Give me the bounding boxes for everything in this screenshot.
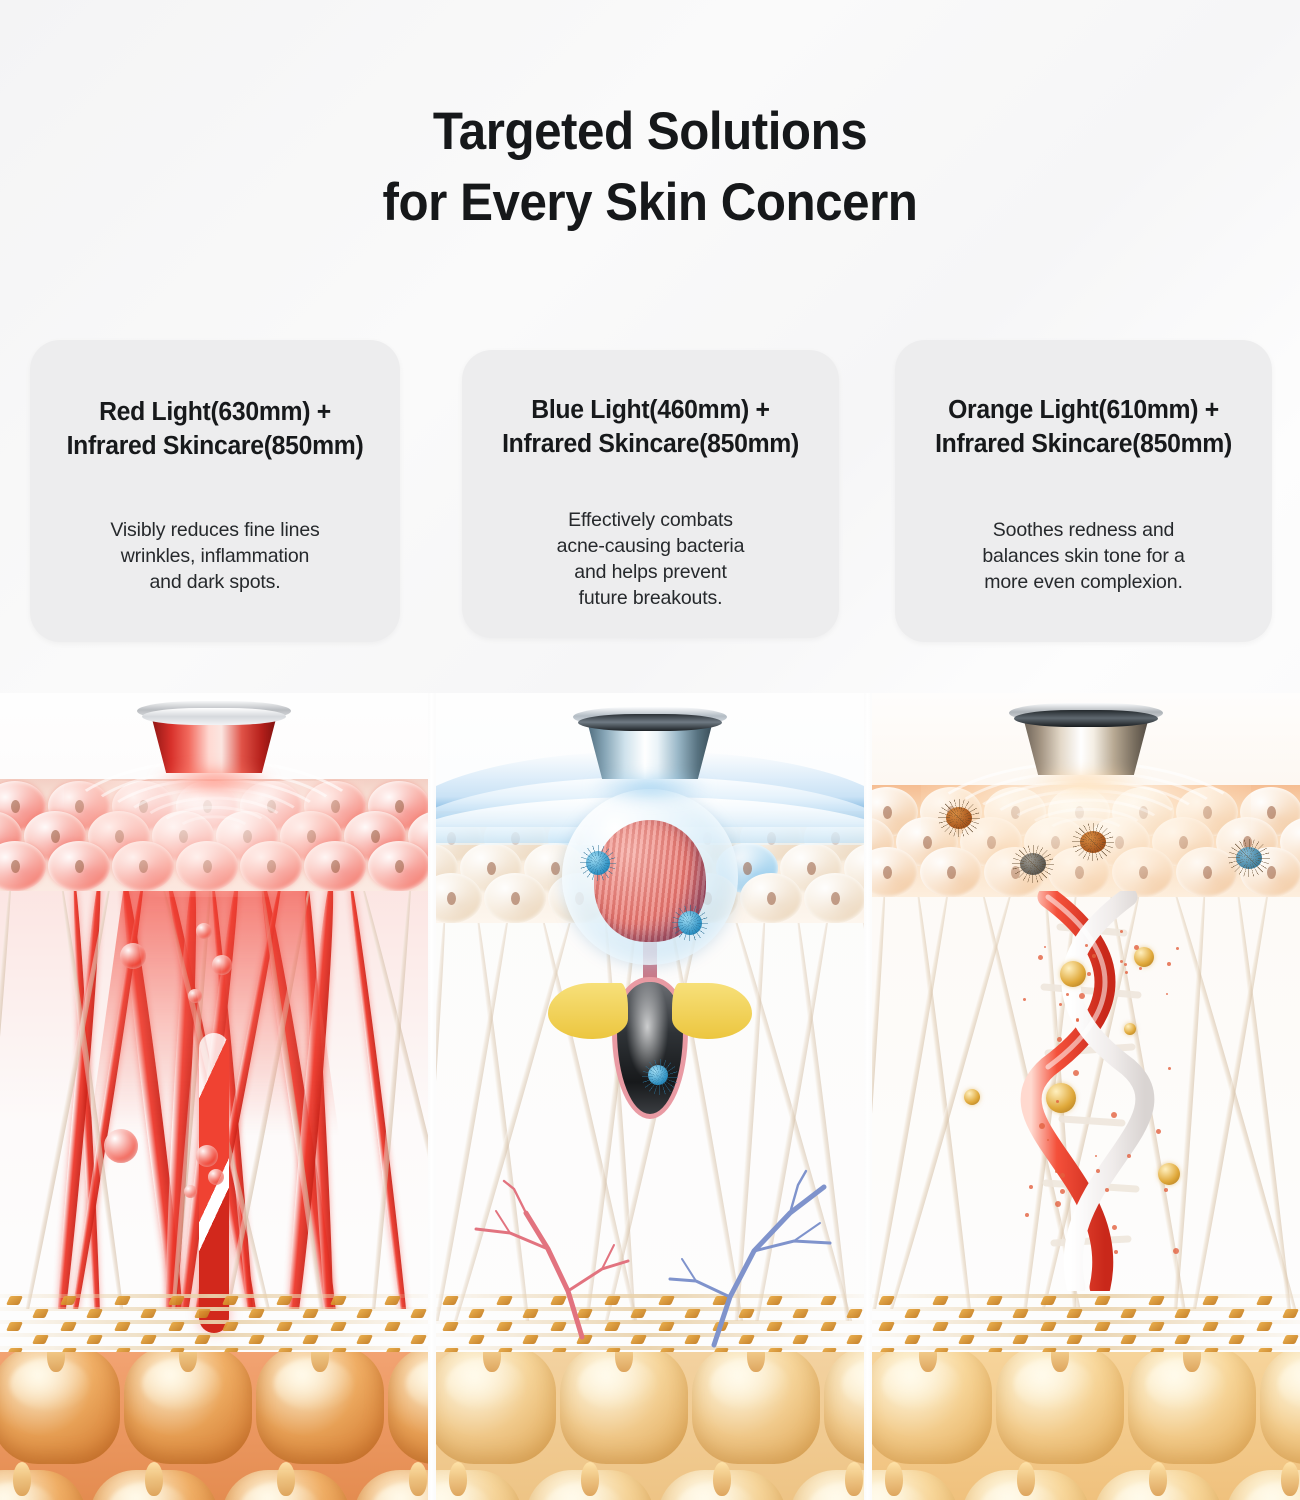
card-description-line-1: Effectively combats (462, 508, 839, 534)
lattice-node (222, 1322, 239, 1331)
lattice-node (302, 1335, 319, 1344)
feature-card-red-light[interactable]: Red Light(630mm) + Infrared Skincare(850… (30, 340, 400, 642)
pigment-particle (1044, 946, 1046, 948)
lattice-node (86, 1335, 103, 1344)
pigment-particle (1120, 960, 1123, 963)
subcutaneous-fat-layer (872, 1352, 1300, 1500)
melanin-spot-brown (1080, 831, 1106, 853)
device-inner-rim (1014, 710, 1158, 727)
dermal-fiber (0, 889, 14, 1309)
card-title: Red Light(630mm) + Infrared Skincare(850… (36, 396, 395, 464)
pigment-particle (1167, 962, 1171, 966)
lattice-node (1040, 1296, 1057, 1305)
epidermis-cell (872, 847, 918, 897)
fat-globule (354, 1470, 428, 1500)
card-description-line-2: balances skin tone for a (895, 544, 1272, 570)
lattice-node (32, 1335, 49, 1344)
lattice-node (1256, 1322, 1273, 1331)
fat-globule (436, 1470, 522, 1500)
card-title-line-2: Infrared Skincare(850mm) (901, 428, 1267, 462)
fat-globule (658, 1470, 786, 1500)
epidermis-cell (740, 873, 802, 923)
lattice-node (1120, 1309, 1137, 1318)
epidermis-cell (0, 841, 46, 891)
pigment-particle (1029, 1185, 1033, 1189)
reticular-lattice (0, 1290, 428, 1352)
card-description-line-2: wrinkles, inflammation (30, 544, 400, 570)
arteriole-capillary (452, 1141, 652, 1341)
pigment-particle (1038, 955, 1043, 960)
card-description-line-2: acne-causing bacteria (462, 534, 839, 560)
lattice-node (114, 1296, 131, 1305)
card-description-line-3: more even complexion. (895, 570, 1272, 596)
lattice-node (60, 1296, 77, 1305)
fat-globule (0, 1352, 120, 1464)
collagen-bubble (188, 989, 202, 1003)
lattice-node (330, 1296, 347, 1305)
fat-globule (436, 1352, 556, 1464)
lattice-node (1174, 1309, 1191, 1318)
lattice-node (140, 1335, 157, 1344)
fat-globule (90, 1470, 218, 1500)
gold-particle (1046, 1083, 1076, 1113)
card-description-line-1: Soothes redness and (895, 518, 1272, 544)
card-title-line-1: Blue Light(460mm) + (468, 394, 834, 428)
lattice-node (1282, 1335, 1299, 1344)
card-title-line-1: Orange Light(610mm) + (901, 394, 1267, 428)
card-title-line-1: Red Light(630mm) + (36, 396, 395, 430)
pigment-particle (1176, 947, 1179, 950)
gold-particle (1134, 947, 1154, 967)
illustration-red-light-skin-cross-section (0, 693, 428, 1500)
lattice-node (410, 1335, 427, 1344)
lattice-node (6, 1322, 23, 1331)
pigment-particle (1056, 1100, 1059, 1103)
lattice-node (194, 1335, 211, 1344)
epidermis-cell (804, 873, 864, 923)
card-description-line-3: and dark spots. (30, 570, 400, 596)
fat-globule (256, 1352, 384, 1464)
fat-globule (872, 1470, 958, 1500)
gold-particle (1158, 1163, 1180, 1185)
collagen-bubble (104, 1129, 138, 1163)
fat-globule (1226, 1470, 1300, 1500)
fat-globule (996, 1352, 1124, 1464)
lattice-node (1148, 1322, 1165, 1331)
lattice-node (1012, 1309, 1029, 1318)
subcutaneous-fat-layer (436, 1352, 864, 1500)
collagen-bubble (208, 1169, 224, 1185)
fat-globule (222, 1470, 350, 1500)
clogged-pore (562, 789, 738, 965)
lattice-node (958, 1309, 975, 1318)
lattice-node (194, 1309, 211, 1318)
fat-globule (1260, 1352, 1300, 1464)
feature-card-orange-light[interactable]: Orange Light(610mm) + Infrared Skincare(… (895, 340, 1272, 642)
device-light-glow (154, 767, 274, 795)
collagen-bubble (196, 923, 212, 939)
illustration-strip (0, 693, 1300, 1500)
melanin-spot-brown (946, 807, 972, 829)
fat-globule (1094, 1470, 1222, 1500)
card-description: Visibly reduces fine lines wrinkles, inf… (30, 518, 400, 596)
fat-globule-row (872, 1352, 1300, 1464)
lattice-node (932, 1322, 949, 1331)
fat-globule (790, 1470, 864, 1500)
card-title-line-2: Infrared Skincare(850mm) (36, 430, 395, 464)
fat-globule (526, 1470, 654, 1500)
lattice-node (356, 1335, 373, 1344)
card-title-line-2: Infrared Skincare(850mm) (468, 428, 834, 462)
fat-globule (560, 1352, 688, 1464)
device-inner-rim (142, 708, 286, 725)
lattice-node (330, 1322, 347, 1331)
lattice-node (60, 1322, 77, 1331)
lattice-node (1228, 1309, 1245, 1318)
lattice-node (356, 1309, 373, 1318)
lattice-node (986, 1322, 1003, 1331)
card-description-line-3: and helps prevent (462, 560, 839, 586)
epidermis-cell (368, 841, 428, 891)
illustration-orange-light-skin-cross-section (872, 693, 1300, 1500)
lattice-node (302, 1309, 319, 1318)
epidermis-cell (436, 873, 482, 923)
lattice-node (276, 1296, 293, 1305)
device-head-red-icon (137, 701, 291, 777)
fat-globule (1128, 1352, 1256, 1464)
feature-cards: Red Light(630mm) + Infrared Skincare(850… (0, 0, 1300, 700)
dermal-fiber (1183, 895, 1272, 1309)
lattice-node (140, 1309, 157, 1318)
lattice-node (1202, 1296, 1219, 1305)
lattice-node (410, 1309, 427, 1318)
fat-globule (388, 1352, 428, 1464)
lattice-node (32, 1309, 49, 1318)
lattice-node (248, 1335, 265, 1344)
lattice-node (384, 1322, 401, 1331)
device-head-gold-icon (1009, 703, 1163, 779)
dermal-fiber (858, 921, 864, 1321)
pigment-particle (1079, 993, 1085, 999)
lattice-node (168, 1322, 185, 1331)
lattice-node (878, 1322, 895, 1331)
illustration-blue-light-skin-cross-section (436, 693, 864, 1500)
collagen-bubble (184, 1185, 197, 1198)
pigment-particle (1066, 993, 1069, 996)
epidermis-cell (484, 873, 546, 923)
lattice-node (1256, 1296, 1273, 1305)
light-ripples (54, 789, 374, 879)
subcutaneous-fat-layer (0, 1352, 428, 1500)
lattice-node (958, 1335, 975, 1344)
card-description-line-1: Visibly reduces fine lines (30, 518, 400, 544)
pigment-particle (1057, 1037, 1062, 1042)
acne-bacteria-icon (648, 1065, 668, 1085)
fat-globule-row (872, 1470, 1300, 1500)
fat-globule (962, 1470, 1090, 1500)
reticular-lattice (872, 1290, 1300, 1352)
fat-globule (0, 1470, 86, 1500)
lattice-node (86, 1309, 103, 1318)
lattice-node (1094, 1296, 1111, 1305)
lattice-node (904, 1309, 921, 1318)
card-title: Orange Light(610mm) + Infrared Skincare(… (901, 394, 1267, 462)
lattice-node (1066, 1335, 1083, 1344)
lattice-node (986, 1296, 1003, 1305)
fat-globule (824, 1352, 864, 1464)
lattice-node (384, 1296, 401, 1305)
feature-card-blue-light[interactable]: Blue Light(460mm) + Infrared Skincare(85… (462, 350, 839, 638)
gold-particle (1124, 1023, 1136, 1035)
pigment-particle (1111, 1112, 1117, 1118)
lattice-node (1174, 1335, 1191, 1344)
lattice-node (1228, 1335, 1245, 1344)
lattice-node (904, 1335, 921, 1344)
dermal-fiber (1234, 895, 1298, 1309)
acne-bacteria-icon (678, 911, 702, 935)
lattice-node (1012, 1335, 1029, 1344)
fat-globule-row (0, 1352, 428, 1464)
panel-divider (864, 693, 872, 1500)
lattice-node (1148, 1296, 1165, 1305)
hair-follicle (602, 937, 698, 1127)
gold-particle (1060, 961, 1086, 987)
lattice-node (1282, 1309, 1299, 1318)
venule-capillary (648, 1139, 858, 1349)
pigment-particle (1023, 998, 1026, 1001)
pigment-particle (1047, 1139, 1049, 1141)
card-title: Blue Light(460mm) + Infrared Skincare(85… (468, 394, 834, 462)
gold-particle (964, 1089, 980, 1105)
card-description-line-4: future breakouts. (462, 586, 839, 612)
melanin-spot-grey (1020, 853, 1046, 875)
pigment-particle (1073, 1070, 1079, 1076)
card-description: Effectively combats acne-causing bacteri… (462, 508, 839, 612)
lattice-node (168, 1296, 185, 1305)
device-light-glow (590, 773, 710, 801)
fat-globule-row (0, 1470, 428, 1500)
lattice-node (222, 1296, 239, 1305)
lattice-node (1202, 1322, 1219, 1331)
fat-globule (692, 1352, 820, 1464)
acne-bacteria-icon (586, 851, 610, 875)
lattice-node (1094, 1322, 1111, 1331)
card-description: Soothes redness and balances skin tone f… (895, 518, 1272, 596)
fat-globule-row (436, 1352, 864, 1464)
lattice-node (932, 1296, 949, 1305)
panel-divider (428, 693, 436, 1500)
lattice-node (1120, 1335, 1137, 1344)
pigment-particle (1055, 1201, 1061, 1207)
lattice-node (248, 1309, 265, 1318)
lattice-node (6, 1296, 23, 1305)
fat-globule (124, 1352, 252, 1464)
pigment-particle (1125, 971, 1128, 974)
fat-globule-row (436, 1470, 864, 1500)
device-head-blue-icon (573, 707, 727, 783)
pigment-particle (1060, 1173, 1065, 1178)
fat-globule (872, 1352, 992, 1464)
lattice-node (1040, 1322, 1057, 1331)
collagen-bubble (196, 1145, 218, 1167)
lattice-node (1066, 1309, 1083, 1318)
melanin-spot-blue (1236, 847, 1262, 869)
lattice-node (878, 1296, 895, 1305)
collagen-bubble (212, 955, 232, 975)
lattice-node (114, 1322, 131, 1331)
device-inner-rim (578, 714, 722, 731)
lattice-node (276, 1322, 293, 1331)
sebaceous-gland-left (548, 983, 628, 1039)
device-light-glow (1026, 769, 1146, 797)
pigment-particle (1168, 1067, 1171, 1070)
pigment-particle (1060, 1189, 1065, 1194)
collagen-bubble (120, 943, 146, 969)
